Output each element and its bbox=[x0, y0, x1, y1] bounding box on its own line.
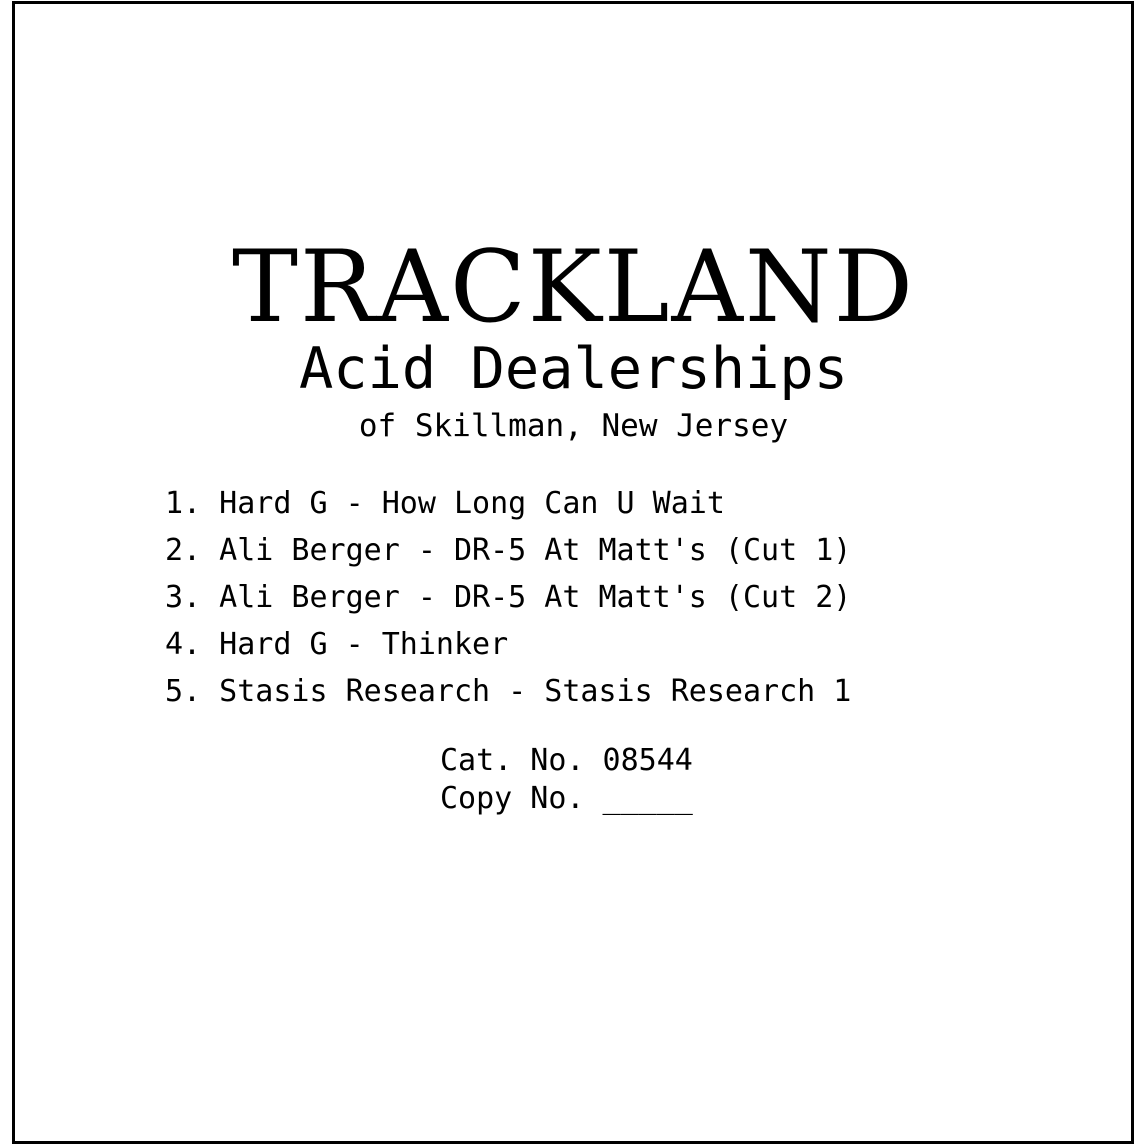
sleeve-content: TRACKLAND Acid Dealerships of Skillman, … bbox=[0, 0, 1147, 1147]
album-origin: of Skillman, New Jersey bbox=[0, 404, 1147, 448]
track-row: 3. Ali Berger - DR-5 At Matt's (Cut 2) bbox=[165, 574, 1105, 621]
catalogue-block: Cat. No. 08544 Copy No. _____ bbox=[440, 742, 1040, 818]
track-row: 1. Hard G - How Long Can U Wait bbox=[165, 480, 1105, 527]
track-row: 4. Hard G - Thinker bbox=[165, 621, 1105, 668]
album-subtitle: Acid Dealerships bbox=[0, 336, 1147, 402]
copy-number-blank: Copy No. _____ bbox=[440, 780, 1040, 818]
track-row: 5. Stasis Research - Stasis Research 1 bbox=[165, 668, 1105, 715]
catalogue-number: Cat. No. 08544 bbox=[440, 742, 1040, 780]
masthead: TRACKLAND Acid Dealerships of Skillman, … bbox=[0, 236, 1147, 448]
page-title: TRACKLAND bbox=[0, 236, 1147, 340]
track-row: 2. Ali Berger - DR-5 At Matt's (Cut 1) bbox=[165, 527, 1105, 574]
record-sleeve: TRACKLAND Acid Dealerships of Skillman, … bbox=[0, 0, 1147, 1147]
tracklist: 1. Hard G - How Long Can U Wait 2. Ali B… bbox=[165, 480, 1105, 715]
